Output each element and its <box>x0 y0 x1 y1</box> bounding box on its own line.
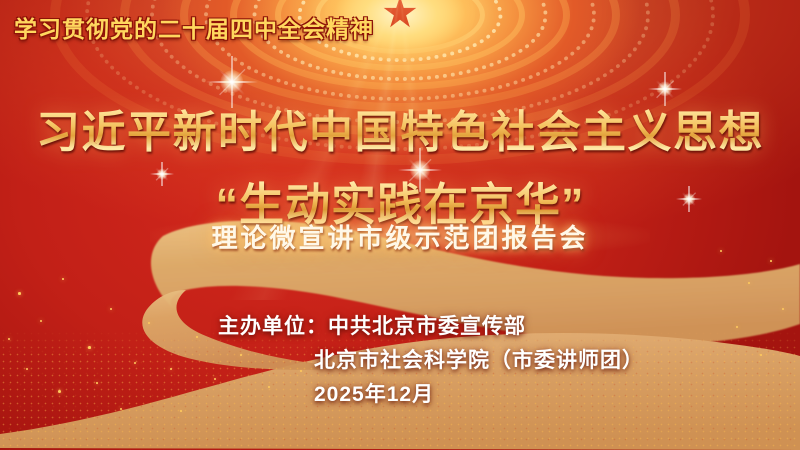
event-name: 理论微宣讲市级示范团报告会 <box>0 218 800 255</box>
page-title: 习近平新时代中国特色社会主义思想 <box>36 96 764 160</box>
event-poster: 学习贯彻党的二十届四中全会精神 习近平新时代中国特色社会主义思想 “生动实践在京… <box>0 0 800 450</box>
organizer-line-2: 北京市社会科学院（市委讲师团） <box>218 344 644 378</box>
organizer-block: 主办单位：中共北京市委宣传部 北京市社会科学院（市委讲师团） 2025年12月 <box>218 310 644 412</box>
organizer-line-1: 主办单位：中共北京市委宣传部 <box>218 310 644 344</box>
event-date: 2025年12月 <box>218 378 644 412</box>
top-slogan: 学习贯彻党的二十届四中全会精神 <box>14 10 374 44</box>
title-block: 习近平新时代中国特色社会主义思想 “生动实践在京华” <box>0 96 800 233</box>
